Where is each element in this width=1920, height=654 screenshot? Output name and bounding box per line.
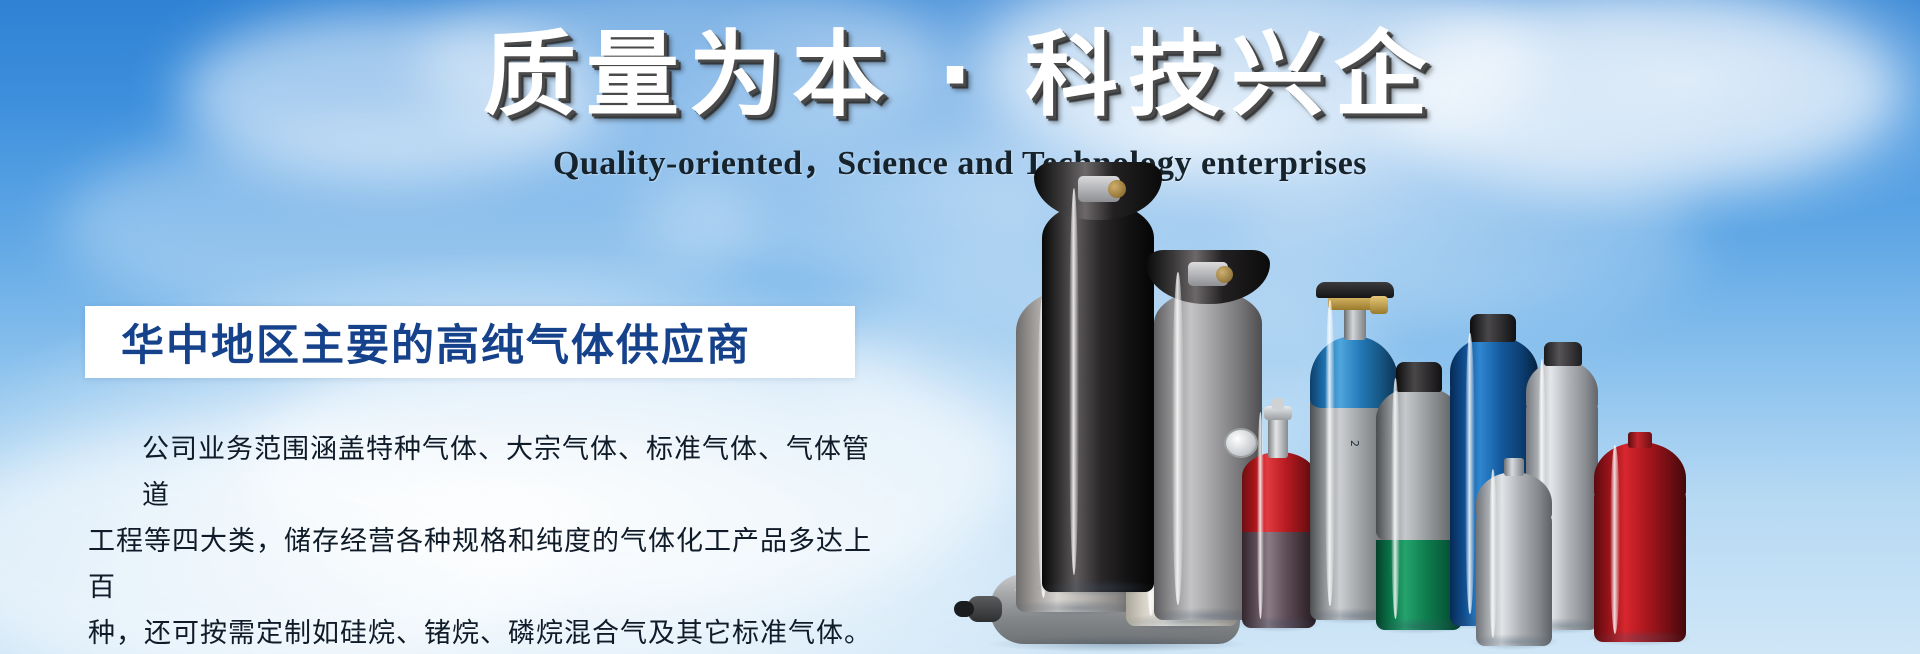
paragraph-line: 公司业务范围涵盖特种气体、大宗气体、标准气体、气体管道: [88, 427, 878, 519]
banner-paragraph: 公司业务范围涵盖特种气体、大宗气体、标准气体、气体管道 工程等四大类，储存经营各…: [88, 427, 878, 654]
banner-headline: 质量为本 · 科技兴企: [0, 28, 1920, 124]
paragraph-line: 工程等四大类，储存经营各种规格和纯度的气体化工产品多达上百: [88, 519, 878, 611]
paragraph-line: 种，还可按需定制如硅烷、锗烷、磷烷混合气及其它标准气体。: [88, 611, 878, 654]
red-short-cylinder: [1594, 432, 1686, 642]
promo-banner: 质量为本 · 科技兴企 Quality-oriented，Science and…: [0, 0, 1920, 654]
red-valve-cylinder: [1242, 398, 1316, 628]
highlight-bar: 华中地区主要的高纯气体供应商: [85, 306, 855, 378]
silver-small-cylinder: [1476, 458, 1552, 646]
highlight-bar-text: 华中地区主要的高纯气体供应商: [85, 311, 751, 373]
gas-cylinder-group: 2: [930, 150, 1920, 654]
black-tall-cylinder: [1042, 162, 1154, 592]
